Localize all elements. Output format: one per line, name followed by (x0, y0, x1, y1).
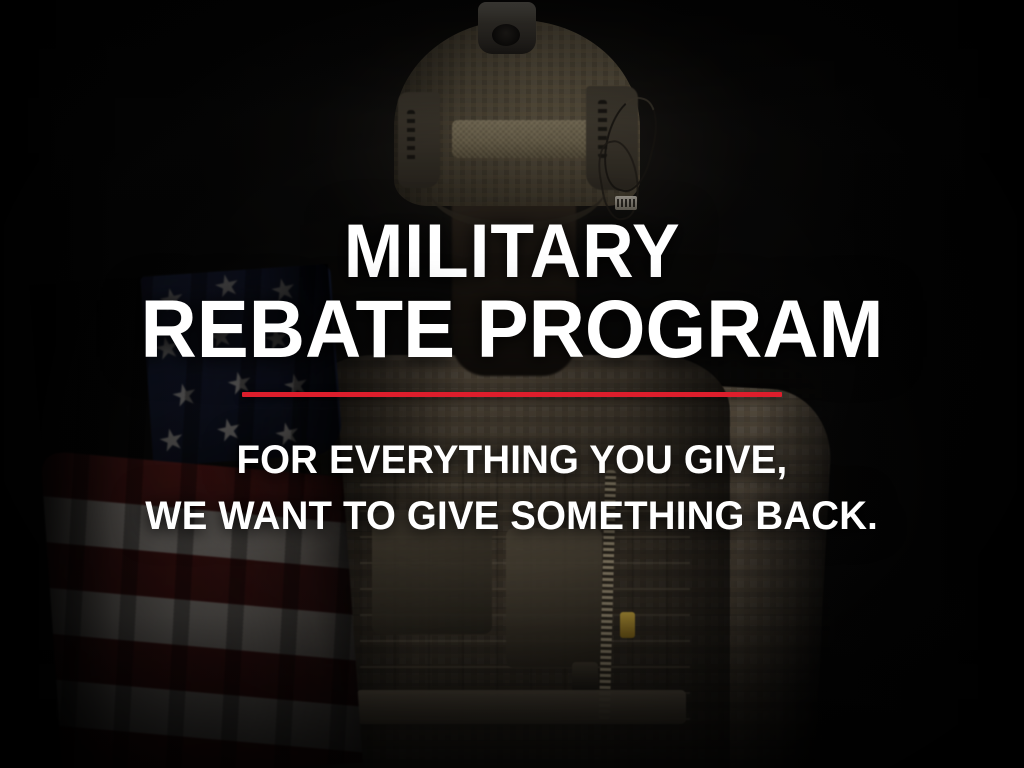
headline-line-1: MILITARY (344, 216, 681, 289)
red-divider-rule (242, 392, 782, 397)
headline-line-2: REBATE PROGRAM (141, 291, 884, 370)
subheadline-line-1: FOR EVERYTHING YOU GIVE, (237, 437, 788, 483)
subheadline-line-2: WE WANT TO GIVE SOMETHING BACK. (146, 493, 879, 539)
military-rebate-banner: MILITARY REBATE PROGRAM FOR EVERYTHING Y… (0, 0, 1024, 768)
banner-content: MILITARY REBATE PROGRAM FOR EVERYTHING Y… (0, 0, 1024, 768)
